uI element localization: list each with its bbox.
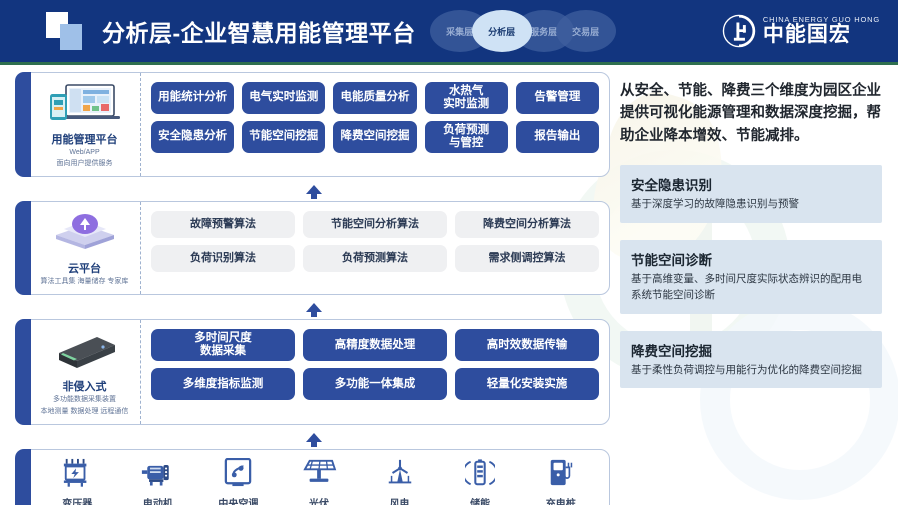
- device-label: 风电: [390, 495, 410, 505]
- panel-identity: 非侵入式多功能数据采集装置本地测量 数据处理 远程通信: [19, 320, 141, 423]
- solar-panel-icon: [301, 458, 337, 493]
- panel-identity: 云平台算法工具集 海量储存 专家库: [19, 202, 141, 294]
- feature-card-desc: 基于柔性负荷调控与用能行为优化的降费空间挖掘: [631, 363, 871, 379]
- motor-icon: [141, 458, 175, 493]
- central-ac-icon: [224, 458, 252, 493]
- device-label: 电动机: [143, 495, 173, 505]
- device-item[interactable]: 中央空调: [198, 458, 279, 505]
- panel-subtitle: 算法工具集 海量储存 专家库: [41, 277, 129, 287]
- panel-name: 非侵入式: [63, 378, 107, 394]
- panel-name: 用能管理平台: [52, 131, 118, 147]
- feature-button[interactable]: 水热气实时监测: [425, 82, 508, 114]
- panel-subtitle: 面向用户提供服务: [57, 159, 113, 169]
- transformer-icon: [61, 458, 93, 493]
- company-logo: CHINA ENERGY GUO HONG 中能国宏: [722, 14, 880, 48]
- layer-tabs: 采集层分析层服务层交易层: [430, 8, 610, 54]
- feature-card-desc: 基于深度学习的故障隐患识别与预警: [631, 197, 871, 213]
- feature-button[interactable]: 多维度指标监测: [151, 368, 295, 400]
- feature-button[interactable]: 负荷识别算法: [151, 245, 295, 272]
- data-collector-device-icon: [47, 327, 123, 375]
- feature-card-title: 降费空间挖掘: [631, 340, 871, 360]
- layer-tab-label: 服务层: [530, 25, 557, 38]
- feature-button[interactable]: 负荷预测与管控: [425, 121, 508, 153]
- page-header: 分析层-企业智慧用能管理平台 采集层分析层服务层交易层 CHINA ENERGY…: [0, 0, 898, 62]
- feature-card: 节能空间诊断基于高维变量、多时间尺度实际状态辨识的配用电系统节能空间诊断: [620, 240, 882, 314]
- battery-storage-icon: [465, 458, 495, 493]
- guohong-emblem-icon: [722, 14, 756, 48]
- flow-arrow-up: [18, 430, 610, 445]
- feature-card-title: 节能空间诊断: [631, 249, 871, 269]
- feature-button[interactable]: 告警管理: [516, 82, 599, 114]
- feature-card: 安全隐患识别基于深度学习的故障隐患识别与预警: [620, 165, 882, 223]
- right-column: 从安全、节能、降费三个维度为园区企业提供可视化能源管理和数据深度挖掘，帮助企业降…: [620, 80, 882, 405]
- feature-card-list: 安全隐患识别基于深度学习的故障隐患识别与预警节能空间诊断基于高维变量、多时间尺度…: [620, 165, 882, 388]
- page-title: 分析层-企业智慧用能管理平台: [102, 14, 416, 48]
- device-panel: 变压器 电动机 中央空调 光伏: [18, 449, 610, 505]
- feature-button[interactable]: 安全隐患分析: [151, 121, 234, 153]
- feature-button[interactable]: 降费空间分析算法: [455, 211, 599, 238]
- device-label: 光伏: [309, 495, 329, 505]
- panel-items: 用能统计分析电气实时监测电能质量分析水热气实时监测告警管理安全隐患分析节能空间挖…: [141, 73, 609, 176]
- panel-subtitle: 本地测量 数据处理 远程通信: [41, 407, 129, 417]
- layer-tab-label: 分析层: [488, 25, 515, 38]
- layer-tab-label: 交易层: [572, 25, 599, 38]
- layer-panel-2: 非侵入式多功能数据采集装置本地测量 数据处理 远程通信多时间尺度数据采集高精度数…: [18, 319, 610, 424]
- feature-card-desc: 基于高维变量、多时间尺度实际状态辨识的配用电系统节能空间诊断: [631, 272, 871, 304]
- panel-subtitle: 多功能数据采集装置: [53, 395, 116, 405]
- device-item[interactable]: 变压器: [37, 458, 118, 505]
- flow-arrow-up: [18, 300, 610, 315]
- device-list: 变压器 电动机 中央空调 光伏: [19, 450, 609, 505]
- device-item[interactable]: 充电桩: [520, 458, 601, 505]
- feature-button[interactable]: 电能质量分析: [333, 82, 416, 114]
- layer-panel-1: 云平台算法工具集 海量储存 专家库故障预警算法节能空间分析算法降费空间分析算法负…: [18, 201, 610, 295]
- flow-arrow-up: [18, 182, 610, 197]
- feature-button[interactable]: 负荷预测算法: [303, 245, 447, 272]
- device-label: 充电桩: [546, 495, 576, 505]
- wind-turbine-icon: [384, 458, 416, 493]
- feature-button[interactable]: 高时效数据传输: [455, 329, 599, 361]
- cloud-platform-icon: [50, 209, 120, 257]
- device-item[interactable]: 光伏: [279, 458, 360, 505]
- feature-button[interactable]: 轻量化安装实施: [455, 368, 599, 400]
- feature-button[interactable]: 用能统计分析: [151, 82, 234, 114]
- device-label: 中央空调: [218, 495, 258, 505]
- feature-button[interactable]: 需求侧调控算法: [455, 245, 599, 272]
- panel-name: 云平台: [68, 260, 101, 276]
- header-logo-mark: [46, 12, 90, 50]
- feature-card: 降费空间挖掘基于柔性负荷调控与用能行为优化的降费空间挖掘: [620, 331, 882, 389]
- layer-tab-label: 采集层: [446, 25, 473, 38]
- intro-paragraph: 从安全、节能、降费三个维度为园区企业提供可视化能源管理和数据深度挖掘，帮助企业降…: [620, 80, 882, 147]
- logo-chinese: 中能国宏: [763, 24, 880, 46]
- feature-card-title: 安全隐患识别: [631, 174, 871, 194]
- device-item[interactable]: 风电: [359, 458, 440, 505]
- feature-button[interactable]: 故障预警算法: [151, 211, 295, 238]
- feature-button[interactable]: 节能空间挖掘: [242, 121, 325, 153]
- feature-button[interactable]: 高精度数据处理: [303, 329, 447, 361]
- feature-button[interactable]: 多时间尺度数据采集: [151, 329, 295, 361]
- feature-button[interactable]: 报告输出: [516, 121, 599, 153]
- feature-button[interactable]: 节能空间分析算法: [303, 211, 447, 238]
- layer-tab-1[interactable]: 分析层: [472, 10, 532, 52]
- feature-button[interactable]: 电气实时监测: [242, 82, 325, 114]
- feature-button[interactable]: 降费空间挖掘: [333, 121, 416, 153]
- panel-identity: 用能管理平台Web/APP面向用户提供服务: [19, 73, 141, 176]
- device-item[interactable]: 储能: [440, 458, 521, 505]
- device-item[interactable]: 电动机: [118, 458, 199, 505]
- ev-charger-icon: [547, 458, 575, 493]
- device-label: 变压器: [62, 495, 92, 505]
- header-divider: [0, 62, 898, 65]
- layer-panel-0: 用能管理平台Web/APP面向用户提供服务用能统计分析电气实时监测电能质量分析水…: [18, 72, 610, 177]
- panel-subtitle: Web/APP: [69, 148, 99, 158]
- laptop-dashboard-icon: [48, 80, 122, 128]
- layer-tab-3[interactable]: 交易层: [556, 10, 616, 52]
- feature-button[interactable]: 多功能一体集成: [303, 368, 447, 400]
- panel-items: 多时间尺度数据采集高精度数据处理高时效数据传输多维度指标监测多功能一体集成轻量化…: [141, 320, 609, 423]
- architecture-stack: 用能管理平台Web/APP面向用户提供服务用能统计分析电气实时监测电能质量分析水…: [18, 72, 610, 505]
- panel-items: 故障预警算法节能空间分析算法降费空间分析算法负荷识别算法负荷预测算法需求侧调控算…: [141, 202, 609, 294]
- device-label: 储能: [470, 495, 490, 505]
